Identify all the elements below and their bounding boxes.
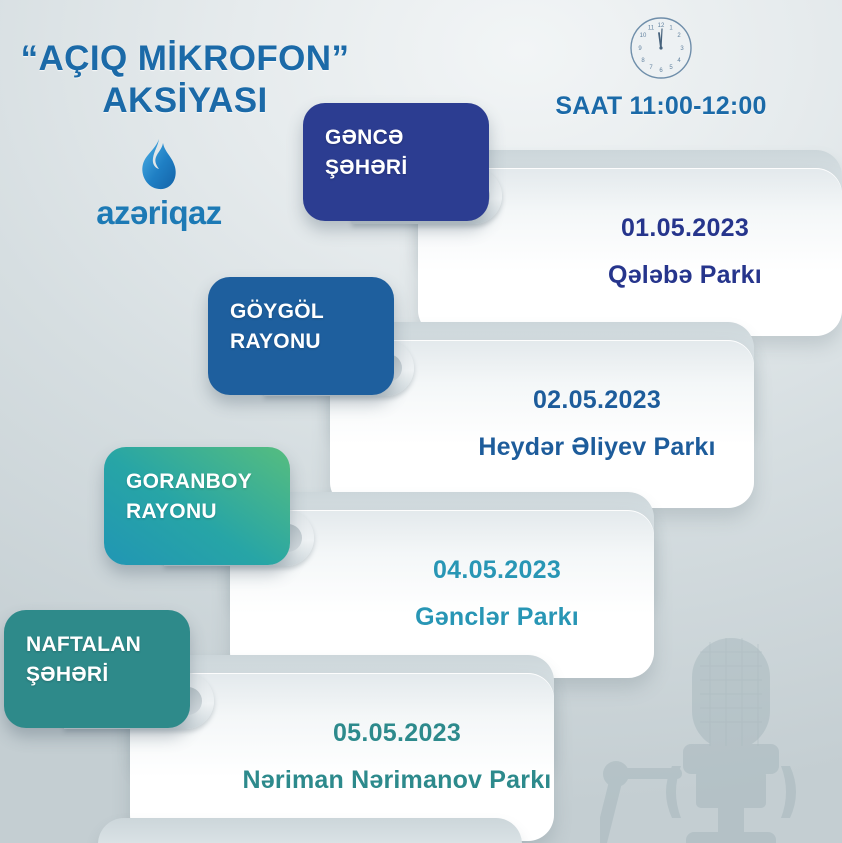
location-tab-4[interactable]: NAFTALAN ŞƏHƏRİ (4, 610, 190, 728)
title-line-1: “AÇIQ MİKROFON” (0, 38, 370, 80)
time-label: SAAT 11:00-12:00 (536, 92, 786, 121)
location-tab-1[interactable]: GƏNCƏ ŞƏHƏRİ (303, 103, 489, 221)
event-place: Heydər Əliyev Parkı (478, 433, 715, 462)
location-line-2: RAYONU (126, 497, 290, 527)
brand-logo: azəriqaz (64, 138, 254, 232)
location-line-1: NAFTALAN (26, 630, 190, 660)
wall-clock-icon: 1212 345 678 91011 (629, 16, 693, 80)
svg-text:10: 10 (640, 33, 647, 39)
event-date: 04.05.2023 (433, 556, 561, 585)
flame-icon (138, 138, 180, 190)
svg-text:11: 11 (648, 26, 655, 32)
brand-name: azəriqaz (64, 194, 254, 232)
location-line-1: GÖYGÖL (230, 297, 394, 327)
event-date: 05.05.2023 (333, 719, 461, 748)
event-date: 02.05.2023 (533, 386, 661, 415)
location-line-2: RAYONU (230, 327, 394, 357)
card-shadow-layer-bottom (98, 818, 522, 843)
location-line-1: GƏNCƏ (325, 123, 489, 153)
location-line-2: ŞƏHƏRİ (325, 153, 489, 183)
location-line-1: GORANBOY (126, 467, 290, 497)
svg-text:12: 12 (658, 23, 665, 29)
event-card-3[interactable]: 04.05.2023 Gənclər Parkı (230, 510, 654, 678)
schedule-time-block: 1212 345 678 91011 SAAT 11:00-12:00 (536, 16, 786, 121)
event-date: 01.05.2023 (621, 214, 749, 243)
location-line-2: ŞƏHƏRİ (26, 660, 190, 690)
event-place: Nəriman Nərimanov Parkı (243, 766, 552, 795)
event-place: Gənclər Parkı (415, 603, 579, 632)
event-place: Qələbə Parkı (608, 261, 762, 290)
event-card-4[interactable]: 05.05.2023 Nəriman Nərimanov Parkı (130, 673, 554, 841)
poster-canvas: “AÇIQ MİKROFON” AKSİYASI azəriqaz 1212 3… (0, 0, 842, 843)
location-tab-3[interactable]: GORANBOY RAYONU (104, 447, 290, 565)
location-tab-2[interactable]: GÖYGÖL RAYONU (208, 277, 394, 395)
